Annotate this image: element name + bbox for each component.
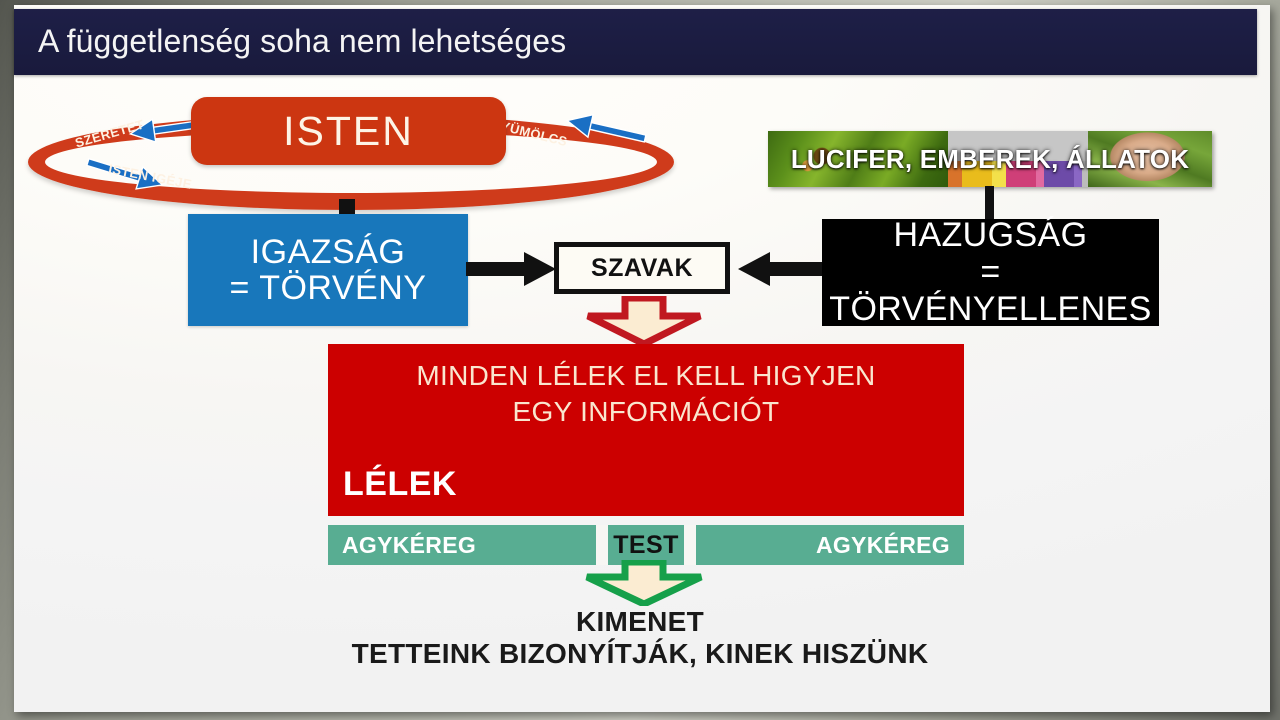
god-cycle-diagram: SZERETET ISTEN IGÉJE GYÜMÖLCS ISTEN [28, 92, 678, 214]
soul-panel: MINDEN LÉLEK EL KELL HIGYJEN EGY INFORMÁ… [328, 344, 964, 516]
hazugsag-box: HAZUGSÁG = TÖRVÉNYELLENES [822, 219, 1159, 326]
arrow-down-red-icon [584, 296, 704, 346]
lucifer-banner: LUCIFER, EMBEREK, ÁLLATOK [768, 131, 1212, 187]
arrow-right-black-icon [466, 248, 558, 290]
szavak-label: SZAVAK [591, 254, 693, 283]
strip-gap-left [596, 525, 608, 565]
soul-message: MINDEN LÉLEK EL KELL HIGYJEN EGY INFORMÁ… [328, 358, 964, 430]
arrow-down-green-icon [582, 560, 706, 606]
szavak-box: SZAVAK [554, 242, 730, 294]
cortex-label-right: AGYKÉREG [816, 525, 950, 565]
isten-label: ISTEN [191, 97, 506, 165]
outcome-line-2: TETTEINK BIZONYÍTJÁK, KINEK HISZÜNK [0, 637, 1280, 671]
page-title: A függetlenség soha nem lehetséges [38, 23, 566, 60]
igazsag-line-2: = TÖRVÉNY [230, 270, 427, 306]
soul-message-line-2: EGY INFORMÁCIÓT [328, 394, 964, 430]
hazugsag-line-2: = TÖRVÉNYELLENES [822, 254, 1159, 327]
hazugsag-line-1: HAZUGSÁG [893, 217, 1087, 254]
igazsag-box: IGAZSÁG = TÖRVÉNY [188, 214, 468, 326]
soul-label: LÉLEK [343, 465, 457, 504]
igazsag-line-1: IGAZSÁG [251, 234, 406, 270]
isten-box: ISTEN [191, 97, 506, 165]
banner-label: LUCIFER, EMBEREK, ÁLLATOK [768, 131, 1212, 187]
title-bar: A függetlenség soha nem lehetséges [14, 9, 1257, 75]
connector-stub-banner-hazugsag [985, 186, 994, 220]
soul-message-line-1: MINDEN LÉLEK EL KELL HIGYJEN [328, 358, 964, 394]
body-strip: AGYKÉREG TEST AGYKÉREG [328, 525, 964, 565]
strip-gap-right [684, 525, 696, 565]
slide-root: A függetlenség soha nem lehetséges SZERE… [0, 0, 1280, 720]
arrow-left-black-icon [736, 248, 828, 290]
connector-stub-isten-igazsag [339, 199, 355, 215]
outcome-text: KIMENET TETTEINK BIZONYÍTJÁK, KINEK HISZ… [0, 606, 1280, 671]
outcome-line-1: KIMENET [0, 606, 1280, 637]
arrow-gyumolcs-icon [560, 114, 652, 146]
